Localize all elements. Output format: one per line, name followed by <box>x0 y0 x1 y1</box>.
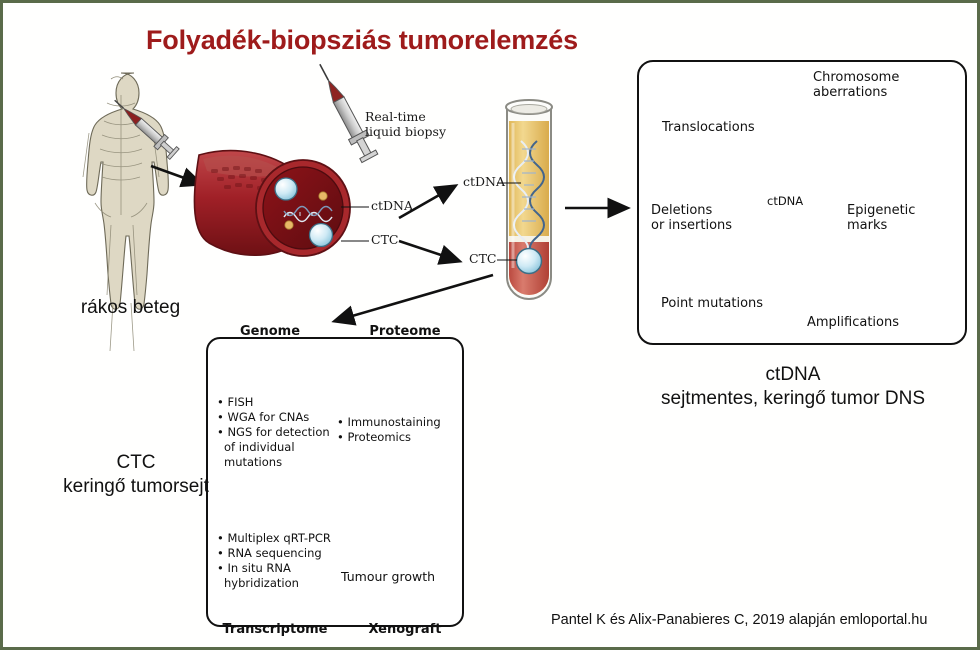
realtime-biopsy-line2: liquid biopsy <box>365 125 460 140</box>
ctdna-droplet-label: ctDNA <box>767 195 803 208</box>
genome-item-2: NGS for detection <box>217 425 337 440</box>
sector-label-deletions-line1: Deletions <box>651 204 732 219</box>
tube-ctdna-label: ctDNA <box>463 175 505 190</box>
sector-label-amplifications: Amplifications <box>807 316 899 331</box>
realtime-biopsy-line1: Real-time <box>365 110 460 125</box>
proteome-item-1: Proteomics <box>337 430 462 445</box>
vessel-ctc-label: CTC <box>371 233 398 248</box>
quadrant-title-proteome: Proteome <box>355 324 455 339</box>
caption-patient: rákos beteg <box>43 296 218 320</box>
sector-label-chromosome-aberrations-line1: Chromosome <box>813 71 899 86</box>
transcriptome-item-2: In situ RNA <box>217 561 347 576</box>
transcriptome-bullet-list: Multiplex qRT-PCR RNA sequencing In situ… <box>217 531 347 591</box>
diagram-page: Folyadék-biopsziás tumorelemzés <box>0 0 980 650</box>
realtime-liquid-biopsy-label: Real-time liquid biopsy <box>365 110 460 140</box>
blood-test-tube-illustration <box>506 100 552 299</box>
transcriptome-item-0: Multiplex qRT-PCR <box>217 531 347 546</box>
ctc-cell-in-vessel <box>275 178 297 200</box>
source-attribution: Pantel K és Alix-Panabieres C, 2019 alap… <box>551 612 927 628</box>
arrow-tube-to-ctc-panel <box>335 275 493 321</box>
sector-label-point-mutations: Point mutations <box>661 297 763 312</box>
sector-label-translocations: Translocations <box>662 121 755 136</box>
sector-label-epigenetic-line2: marks <box>847 219 915 234</box>
xenograft-caption: Tumour growth <box>341 569 435 584</box>
vessel-ctdna-label: ctDNA <box>371 199 413 214</box>
quadrant-title-transcriptome: Transcriptome <box>215 622 335 637</box>
proteome-bullet-list: Immunostaining Proteomics <box>337 415 462 445</box>
proteome-item-0: Immunostaining <box>337 415 462 430</box>
genome-item-1: WGA for CNAs <box>217 410 337 425</box>
transcriptome-item-2-cont-0: hybridization <box>217 576 347 591</box>
caption-ctc-line2: keringő tumorsejt <box>11 475 261 499</box>
transcriptome-item-1: RNA sequencing <box>217 546 347 561</box>
genome-item-0: FISH <box>217 395 337 410</box>
caption-ctdna-line2: sejtmentes, keringő tumor DNS <box>598 387 980 411</box>
tube-ctc-label: CTC <box>469 252 496 267</box>
ctdna-analysis-panel: Translocations Chromosome aberrations De… <box>637 60 967 345</box>
sector-label-deletions-line2: or insertions <box>651 219 732 234</box>
caption-ctc-line1: CTC <box>11 451 261 475</box>
sector-label-epigenetic-line1: Epigenetic <box>847 204 915 219</box>
sector-label-chromosome-aberrations-line2: aberrations <box>813 86 899 101</box>
caption-ctc: CTC keringő tumorsejt <box>11 451 261 499</box>
quadrant-title-genome: Genome <box>225 324 315 339</box>
arrow-to-ctc <box>399 241 459 261</box>
caption-ctdna-line1: ctDNA <box>598 363 980 387</box>
quadrant-title-xenograft: Xenograft <box>355 622 455 637</box>
blood-vessel-illustration <box>194 151 350 256</box>
ctc-cell-in-tube <box>517 249 542 274</box>
caption-ctdna: ctDNA sejtmentes, keringő tumor DNS <box>598 363 980 411</box>
